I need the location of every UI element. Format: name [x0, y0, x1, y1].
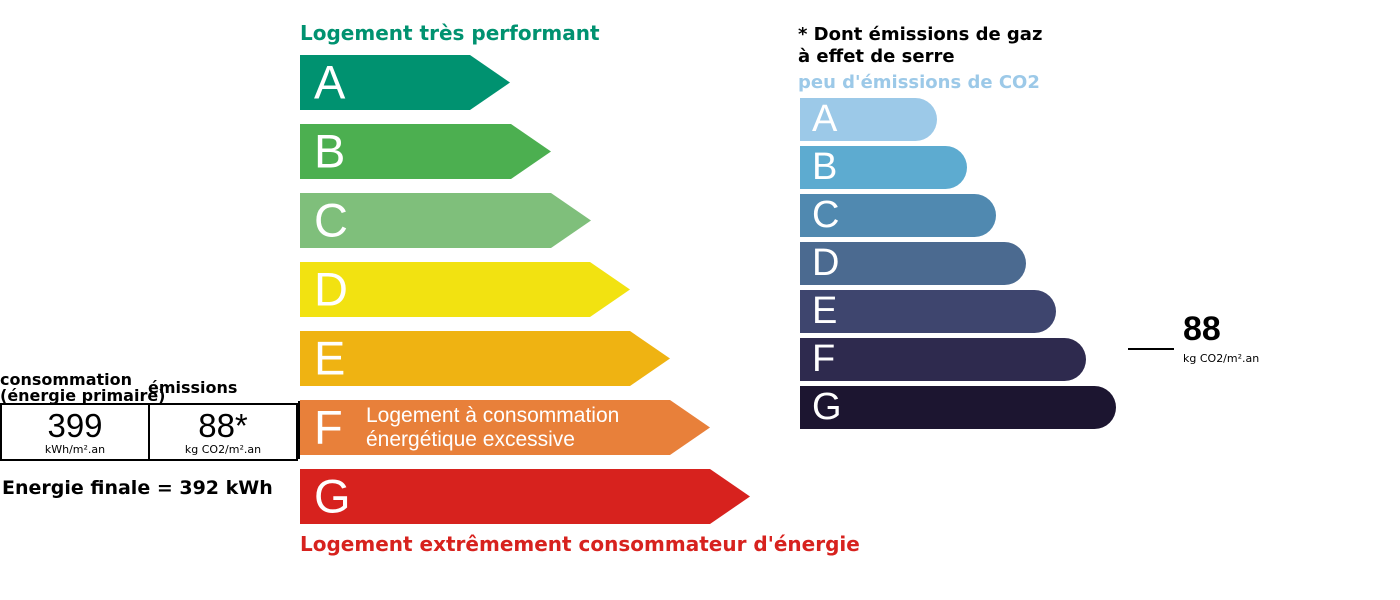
ges-letter-a: A — [812, 100, 837, 138]
energy-letter-d: D — [314, 265, 348, 312]
ges-row-c[interactable]: C — [800, 194, 996, 237]
final-energy-text: Energie finale = 392 kWh — [2, 477, 273, 499]
ges-letter-e: E — [812, 292, 837, 330]
ges-scale-top-label: peu d'émissions de CO2 — [798, 72, 1040, 93]
ges-row-f[interactable]: F — [800, 338, 1086, 381]
ges-row-e[interactable]: E — [800, 290, 1056, 333]
ges-note: * Dont émissions de gazà effet de serre — [798, 24, 1042, 68]
energy-letter-b: B — [314, 127, 345, 174]
energy-row-b[interactable]: B — [300, 124, 551, 179]
energy-arrow-d — [300, 262, 630, 317]
energy-row-c[interactable]: C — [300, 193, 591, 248]
consumption-value: 399 — [47, 409, 102, 442]
energy-row-a[interactable]: A — [300, 55, 510, 110]
ges-pill-f — [800, 338, 1086, 381]
value-box: 399 kWh/m².an 88* kg CO2/m².an — [0, 403, 298, 461]
ges-row-a[interactable]: A — [800, 98, 937, 141]
energy-row-d[interactable]: D — [300, 262, 630, 317]
emissions-value-cell: 88* kg CO2/m².an — [148, 405, 296, 459]
ges-row-g[interactable]: G — [800, 386, 1116, 429]
energy-letter-c: C — [314, 196, 348, 243]
emissions-unit: kg CO2/m².an — [185, 444, 261, 455]
ges-letter-d: D — [812, 244, 839, 282]
ges-unit: kg CO2/m².an — [1183, 353, 1259, 364]
ges-pill-e — [800, 290, 1056, 333]
energy-letter-g: G — [314, 472, 351, 519]
energy-row-f[interactable]: FLogement à consommationénergétique exce… — [300, 400, 710, 455]
consumption-unit: kWh/m².an — [45, 444, 105, 455]
ges-row-b[interactable]: B — [800, 146, 967, 189]
energy-letter-e: E — [314, 334, 345, 381]
energy-scale-bottom-label: Logement extrêmement consommateur d'éner… — [300, 532, 860, 556]
emissions-value: 88* — [198, 409, 248, 442]
energy-row-g[interactable]: G — [300, 469, 750, 524]
energy-desc-f: Logement à consommationénergétique exces… — [366, 403, 619, 451]
ges-letter-g: G — [812, 388, 842, 426]
emissions-to-f-connector — [298, 401, 300, 459]
energy-arrow-e — [300, 331, 670, 386]
ges-pill-g — [800, 386, 1116, 429]
energy-arrow-g — [300, 469, 750, 524]
energy-row-e[interactable]: E — [300, 331, 670, 386]
ges-letter-c: C — [812, 196, 839, 234]
energy-letter-f: F — [314, 403, 343, 450]
ges-row-d[interactable]: D — [800, 242, 1026, 285]
ges-value: 88 — [1183, 312, 1221, 346]
emissions-header: émissions — [148, 380, 237, 396]
energy-scale-top-label: Logement très performant — [300, 21, 600, 45]
consumption-value-cell: 399 kWh/m².an — [2, 405, 148, 459]
ges-pointer-line — [1128, 348, 1174, 350]
ges-letter-f: F — [812, 340, 835, 378]
ges-letter-b: B — [812, 148, 837, 186]
consumption-header: consommation(énergie primaire) — [0, 372, 166, 404]
energy-letter-a: A — [314, 58, 345, 105]
